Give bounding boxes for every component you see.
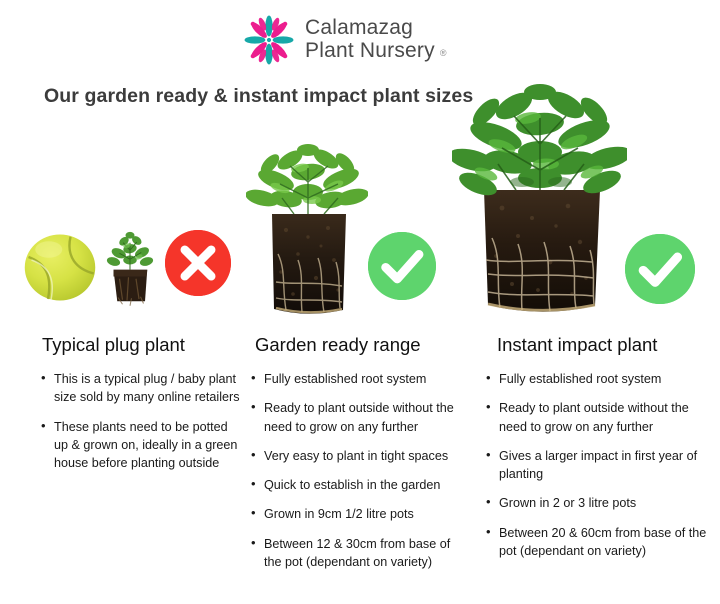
bullet-list-instant-impact-plant: Fully established root system Ready to p… (485, 370, 710, 571)
registered-trademark-symbol: ® (440, 49, 447, 59)
red-cross-badge-icon (165, 230, 231, 296)
green-check-badge-icon (368, 232, 436, 300)
brand-wordmark: Calamazag Plant Nursery ® (305, 17, 446, 62)
bullet-list-garden-ready-range: Fully established root system Ready to p… (250, 370, 465, 582)
list-item: Between 12 & 30cm from base of the pot (… (250, 535, 465, 572)
list-item: Very easy to plant in tight spaces (250, 447, 465, 465)
plug-plant-image (100, 226, 160, 306)
column-heading-instant-impact-plant: Instant impact plant (497, 334, 657, 356)
garden-ready-plant-image (246, 142, 368, 320)
plant-size-comparison-page: Calamazag Plant Nursery ® Our garden rea… (0, 0, 720, 604)
column-heading-garden-ready-range: Garden ready range (255, 334, 421, 356)
instant-impact-plant-image (452, 78, 627, 321)
list-item: Ready to plant outside without the need … (250, 399, 465, 436)
green-check-badge-icon (625, 234, 695, 304)
list-item: Gives a larger impact in first year of p… (485, 447, 710, 484)
column-heading-typical-plug-plant: Typical plug plant (42, 334, 185, 356)
list-item: Grown in 2 or 3 litre pots (485, 494, 710, 512)
brand-logo: Calamazag Plant Nursery ® (243, 14, 446, 66)
list-item: Fully established root system (485, 370, 710, 388)
list-item: Quick to establish in the garden (250, 476, 465, 494)
list-item: This is a typical plug / baby plant size… (40, 370, 240, 407)
tennis-ball-image (22, 230, 98, 302)
starburst-flower-logo-icon (243, 14, 295, 66)
list-item: These plants need to be potted up & grow… (40, 418, 240, 473)
brand-name-line-1: Calamazag (305, 17, 446, 40)
list-item: Between 20 & 60cm from base of the pot (… (485, 524, 710, 561)
bullet-list-typical-plug-plant: This is a typical plug / baby plant size… (40, 370, 240, 483)
brand-name-line-2: Plant Nursery (305, 40, 435, 63)
list-item: Ready to plant outside without the need … (485, 399, 710, 436)
page-title: Our garden ready & instant impact plant … (44, 85, 473, 108)
list-item: Grown in 9cm 1/2 litre pots (250, 505, 465, 523)
list-item: Fully established root system (250, 370, 465, 388)
